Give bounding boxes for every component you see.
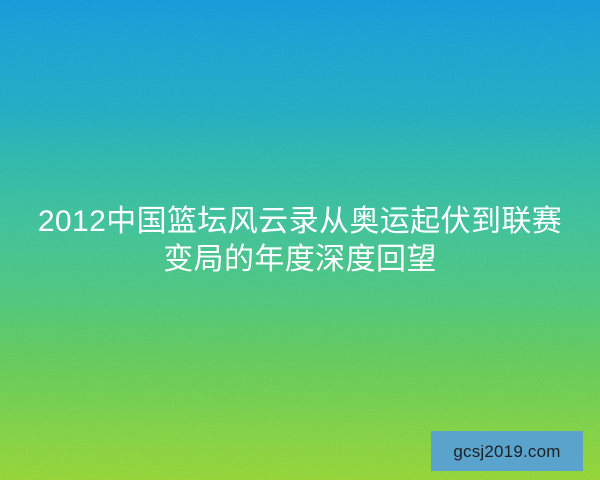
- poster-canvas: 2012中国篮坛风云录从奥运起伏到联赛 变局的年度深度回望 gcsj2019.c…: [0, 0, 600, 480]
- watermark-text: gcsj2019.com: [453, 443, 560, 460]
- poster-title: 2012中国篮坛风云录从奥运起伏到联赛 变局的年度深度回望: [0, 203, 600, 279]
- watermark-badge: gcsj2019.com: [431, 431, 583, 471]
- title-line-2: 变局的年度深度回望: [26, 241, 574, 279]
- title-line-1: 2012中国篮坛风云录从奥运起伏到联赛: [26, 203, 574, 241]
